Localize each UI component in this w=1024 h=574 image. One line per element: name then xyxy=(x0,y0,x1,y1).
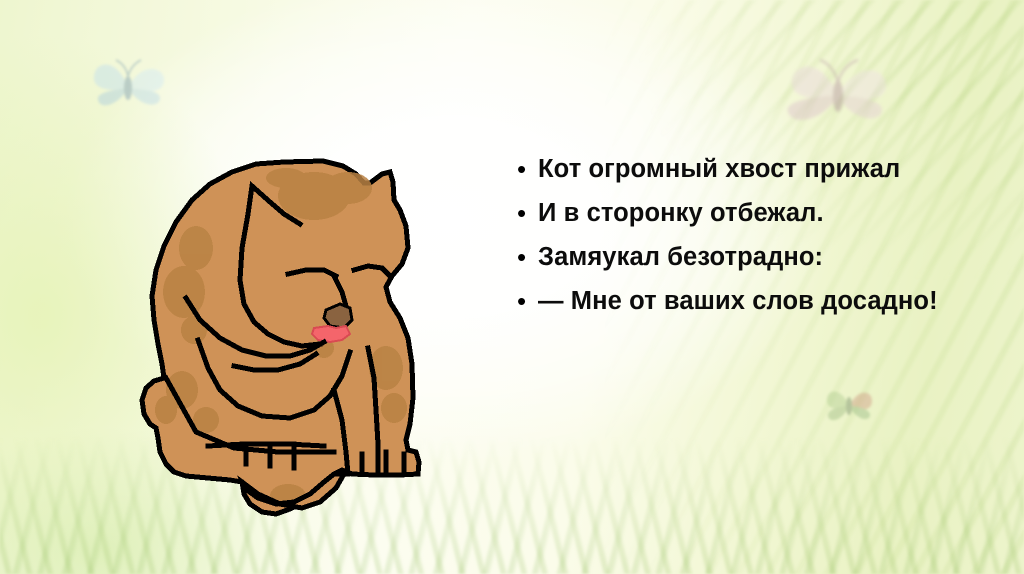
verse-text-block: • Кот огромный хвост прижал • И в сторон… xyxy=(508,150,978,326)
cat-grooming-illustration xyxy=(138,152,432,534)
verse-line-text: Кот огромный хвост прижал xyxy=(538,150,978,188)
verse-line-text: Замяукал безотрадно: xyxy=(538,238,978,276)
cat-foot-front-line xyxy=(208,444,324,446)
cat-body-group xyxy=(142,161,419,514)
bullet-icon: • xyxy=(508,238,538,276)
verse-line: • Замяукал безотрадно: xyxy=(508,238,978,276)
butterfly-small-icon xyxy=(818,382,880,428)
slide-canvas: • Кот огромный хвост прижал • И в сторон… xyxy=(0,0,1024,574)
cat-nose xyxy=(324,304,352,328)
butterfly-blue-icon xyxy=(78,48,182,120)
butterfly-pink-icon xyxy=(762,50,912,136)
verse-line: • — Мне от ваших слов досадно! xyxy=(508,282,978,320)
verse-line: • Кот огромный хвост прижал xyxy=(508,150,978,188)
bullet-icon: • xyxy=(508,150,538,188)
bullet-icon: • xyxy=(508,194,538,232)
verse-line-text: И в сторонку отбежал. xyxy=(538,194,978,232)
bullet-icon: • xyxy=(508,282,538,320)
verse-line-text: — Мне от ваших слов досадно! xyxy=(538,282,978,320)
verse-line: • И в сторонку отбежал. xyxy=(508,194,978,232)
